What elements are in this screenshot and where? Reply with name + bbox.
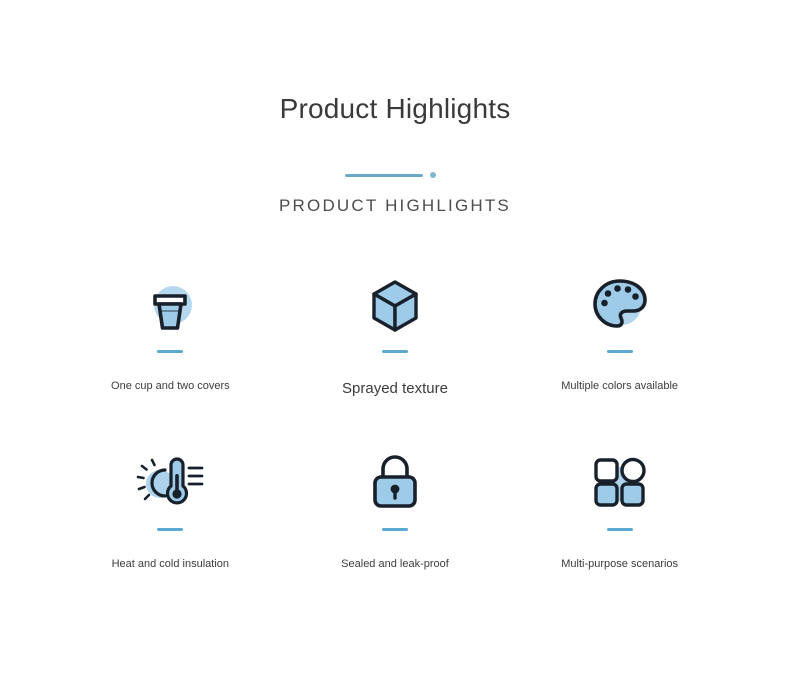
padlock-icon bbox=[357, 444, 433, 520]
accent-bar bbox=[157, 528, 183, 531]
accent-bar bbox=[157, 350, 183, 353]
feature-item-sprayed-texture[interactable]: Sprayed texture bbox=[283, 266, 508, 444]
grid-shapes-icon bbox=[582, 444, 658, 520]
feature-label: Heat and cold insulation bbox=[112, 557, 229, 571]
accent-bar bbox=[607, 528, 633, 531]
feature-item-multi-purpose-scenarios[interactable]: Multi-purpose scenarios bbox=[507, 444, 732, 622]
feature-item-heat-cold-insulation[interactable]: Heat and cold insulation bbox=[58, 444, 283, 622]
thermometer-icon bbox=[132, 444, 208, 520]
feature-label: One cup and two covers bbox=[111, 379, 230, 393]
feature-grid: One cup and two covers Sprayed texture bbox=[0, 266, 790, 622]
page-subtitle: PRODUCT HIGHLIGHTS bbox=[0, 196, 790, 216]
title-divider bbox=[345, 170, 445, 180]
divider-line-icon bbox=[345, 174, 423, 177]
3d-box-icon bbox=[357, 266, 433, 342]
page-title: Product Highlights bbox=[0, 92, 790, 126]
coffee-cup-icon bbox=[132, 266, 208, 342]
feature-label: Multi-purpose scenarios bbox=[561, 557, 678, 571]
feature-item-sealed-leak-proof[interactable]: Sealed and leak-proof bbox=[283, 444, 508, 622]
feature-label: Multiple colors available bbox=[561, 379, 678, 393]
accent-bar bbox=[382, 528, 408, 531]
feature-item-multiple-colors[interactable]: Multiple colors available bbox=[507, 266, 732, 444]
divider-dot-icon bbox=[430, 172, 436, 178]
page-header: Product Highlights PRODUCT HIGHLIGHTS bbox=[0, 0, 790, 216]
feature-label: Sealed and leak-proof bbox=[341, 557, 449, 571]
product-highlights-page: Product Highlights PRODUCT HIGHLIGHTS On… bbox=[0, 0, 790, 692]
paint-palette-icon bbox=[582, 266, 658, 342]
feature-item-one-cup-two-covers[interactable]: One cup and two covers bbox=[58, 266, 283, 444]
accent-bar bbox=[382, 350, 408, 353]
feature-label: Sprayed texture bbox=[342, 379, 448, 399]
accent-bar bbox=[607, 350, 633, 353]
